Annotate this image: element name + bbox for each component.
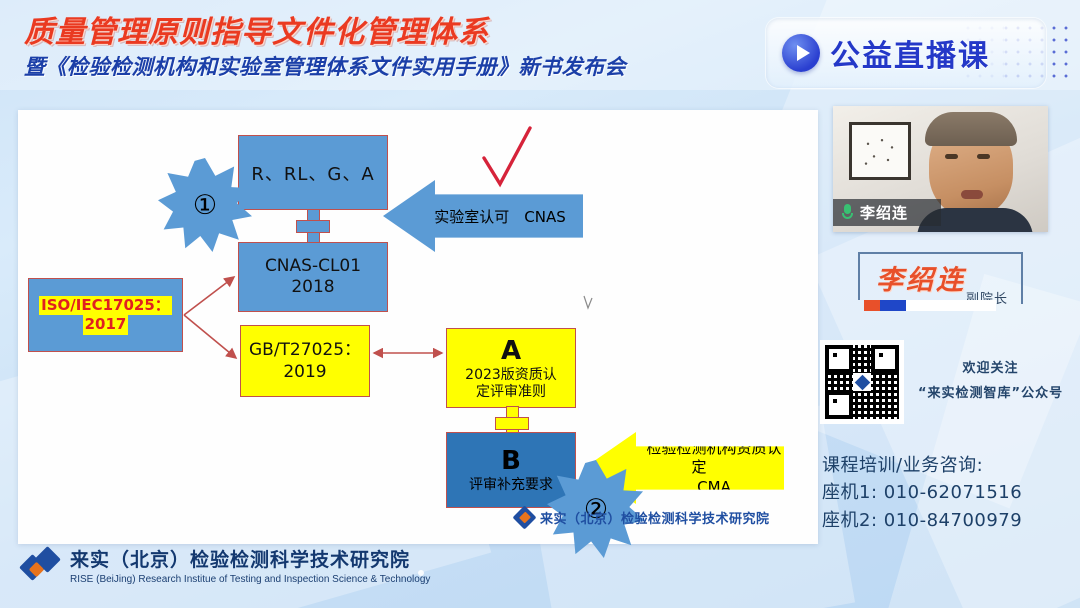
contact-phone-1: 座机1: 010-62071516 bbox=[822, 479, 1022, 506]
arrow-cnas-label: 实验室认可 CNAS bbox=[434, 206, 565, 227]
footer-name-en: RISE (BeiJing) Research Institue of Test… bbox=[70, 574, 430, 585]
speaker-name-card: 李绍连 副院长 bbox=[848, 252, 1038, 312]
qr-center-logo bbox=[853, 373, 871, 391]
contact-info: 课程培训/业务咨询: 座机1: 010-62071516 座机2: 010-84… bbox=[822, 452, 1022, 534]
qr-caption-line1: 欢迎关注 bbox=[918, 357, 1063, 382]
box-gbt-27025[interactable]: GB/T27025： 2019 bbox=[240, 325, 370, 397]
presentation-slide[interactable]: R、RL、G、A CNAS-CL01 2018 ISO/IEC17025： 20… bbox=[18, 110, 818, 544]
box-cnas-cl01-line1: CNAS-CL01 bbox=[265, 256, 361, 277]
footer-text: 来实（北京）检验检测科学技术研究院 RISE (BeiJing) Researc… bbox=[70, 549, 430, 585]
page-subtitle: 暨《检验检测机构和实验室管理体系文件实用手册》新书发布会 bbox=[24, 55, 626, 79]
box-cnas-cl01-line2: 2018 bbox=[291, 277, 334, 298]
qr-code-image[interactable] bbox=[820, 340, 904, 424]
name-card-right-rule bbox=[1021, 252, 1023, 304]
speaker-name-overlay: 李绍连 bbox=[833, 199, 941, 226]
speaker-name-label: 李绍连 bbox=[860, 202, 908, 223]
qr-caption: 欢迎关注 “来实检测智库”公众号 bbox=[918, 357, 1063, 406]
speaker-hair bbox=[925, 112, 1017, 146]
speaker-mouth bbox=[961, 190, 983, 199]
box-r-rl-g-a[interactable]: R、RL、G、A bbox=[238, 135, 388, 210]
box-b-letter: B bbox=[501, 446, 521, 477]
slide-watermark: 来实（北京）检验检测科学技术研究院 bbox=[516, 508, 770, 527]
speaker-eye-right bbox=[977, 154, 990, 159]
footer-dot-decoration bbox=[418, 570, 424, 576]
box-a-line2: 定评审准则 bbox=[476, 384, 546, 401]
live-course-badge: 公益直播课 bbox=[766, 18, 1046, 88]
box-iso-iec-17025[interactable]: ISO/IEC17025： 2017 bbox=[28, 278, 183, 352]
arrow-cma-line1: 检验检测机构资质认定 bbox=[646, 439, 781, 477]
plus-connector-top bbox=[296, 209, 330, 243]
microphone-icon bbox=[841, 204, 854, 221]
box-b-label: 评审补充要求 bbox=[469, 477, 553, 494]
live-stream-slide-view: 质量管理原则指导文件化管理体系 暨《检验检测机构和实验室管理体系文件实用手册》新… bbox=[0, 0, 1080, 608]
qr-caption-line2: “来实检测智库”公众号 bbox=[918, 382, 1063, 407]
qr-finder-top-right bbox=[871, 345, 899, 373]
name-card-top-rule bbox=[858, 252, 1023, 254]
box-a-letter: A bbox=[501, 336, 521, 367]
qr-finder-bottom-left bbox=[825, 391, 853, 419]
wall-picture-frame bbox=[849, 122, 911, 180]
footer-name-cn: 来实（北京）检验检测科学技术研究院 bbox=[70, 549, 430, 572]
box-gbt-line1: GB/T27025： bbox=[249, 339, 361, 361]
box-iso-line2: 2017 bbox=[83, 315, 129, 335]
speaker-video-panel[interactable]: 李绍连 bbox=[833, 106, 1048, 232]
rise-logo-icon bbox=[516, 509, 533, 526]
arrow-cma-label: 检验检测机构资质认定 CMA bbox=[614, 439, 784, 498]
box-b-supplementary[interactable]: B 评审补充要求 bbox=[446, 432, 576, 508]
header: 质量管理原则指导文件化管理体系 暨《检验检测机构和实验室管理体系文件实用手册》新… bbox=[0, 0, 1080, 104]
qr-follow-block: 欢迎关注 “来实检测智库”公众号 bbox=[820, 338, 1070, 426]
box-a-line1: 2023版资质认 bbox=[465, 367, 557, 384]
box-gbt-line2: 2019 bbox=[283, 361, 326, 383]
box-cnas-cl01[interactable]: CNAS-CL01 2018 bbox=[238, 242, 388, 312]
play-icon bbox=[782, 34, 820, 72]
slide-watermark-label: 来实（北京）检验检测科学技术研究院 bbox=[540, 508, 770, 527]
name-card-name: 李绍连 bbox=[876, 258, 966, 297]
contact-heading: 课程培训/业务咨询: bbox=[822, 452, 1022, 479]
contact-phone-2: 座机2: 010-84700979 bbox=[822, 507, 1022, 534]
live-course-badge-label: 公益直播课 bbox=[830, 31, 990, 75]
box-a-criteria[interactable]: A 2023版资质认 定评审准则 bbox=[446, 328, 576, 408]
qr-modules bbox=[825, 345, 899, 419]
speaker-eye-left bbox=[945, 154, 958, 159]
rise-logo-icon-footer bbox=[22, 548, 60, 586]
arrow-lab-accreditation-cnas[interactable]: 实验室认可 CNAS bbox=[383, 180, 583, 252]
header-title-block: 质量管理原则指导文件化管理体系 暨《检验检测机构和实验室管理体系文件实用手册》新… bbox=[24, 16, 626, 79]
name-card-left-rule bbox=[858, 252, 860, 300]
box-r-rl-g-a-label: R、RL、G、A bbox=[251, 160, 374, 186]
starburst-one-number: ① bbox=[193, 192, 217, 219]
name-card-color-bar bbox=[864, 300, 996, 311]
qr-finder-top-left bbox=[825, 345, 853, 373]
footer-branding: 来实（北京）检验检测科学技术研究院 RISE (BeiJing) Researc… bbox=[22, 548, 430, 586]
page-title: 质量管理原则指导文件化管理体系 bbox=[24, 16, 626, 49]
arrow-cma-line2: CMA bbox=[697, 478, 731, 496]
box-iso-line1: ISO/IEC17025： bbox=[39, 296, 172, 316]
calligraphy-artwork bbox=[860, 133, 900, 169]
